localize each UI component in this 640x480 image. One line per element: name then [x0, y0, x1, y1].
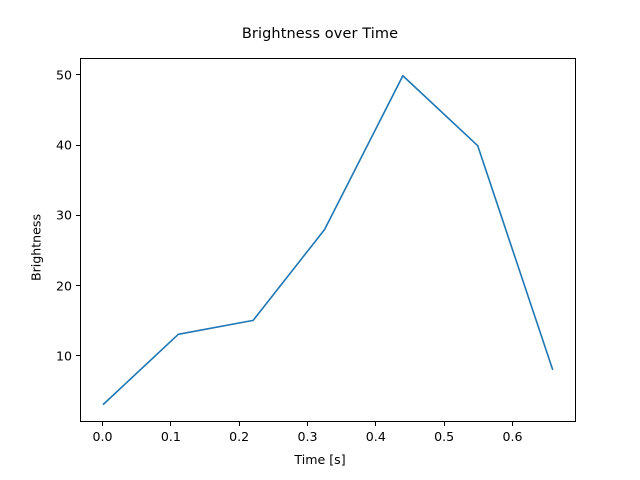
brightness-line-series: [103, 76, 552, 404]
x-tick-label: 0.3: [297, 429, 317, 444]
x-tick-mark: [375, 422, 376, 426]
y-tick-mark: [76, 74, 80, 75]
y-tick-label: 40: [34, 138, 72, 153]
y-tick-mark: [76, 285, 80, 286]
y-tick-mark: [76, 145, 80, 146]
y-axis-label: Brightness: [29, 168, 44, 328]
y-tick-label: 50: [34, 67, 72, 82]
y-tick-mark: [76, 215, 80, 216]
x-tick-label: 0.0: [93, 429, 113, 444]
x-tick-mark: [307, 422, 308, 426]
x-tick-label: 0.1: [161, 429, 181, 444]
x-tick-mark: [102, 422, 103, 426]
x-tick-mark: [170, 422, 171, 426]
line-series-svg: [81, 59, 575, 421]
x-axis-label: Time [s]: [0, 452, 640, 467]
x-tick-label: 0.5: [434, 429, 454, 444]
plot-axes-area: [80, 58, 576, 422]
y-tick-mark: [76, 355, 80, 356]
x-tick-mark: [444, 422, 445, 426]
figure-canvas: Brightness over Time 0.00.10.20.30.40.50…: [0, 0, 640, 480]
x-tick-label: 0.6: [502, 429, 522, 444]
y-tick-label: 10: [34, 348, 72, 363]
x-tick-label: 0.2: [229, 429, 249, 444]
chart-title: Brightness over Time: [0, 26, 640, 42]
x-tick-label: 0.4: [366, 429, 386, 444]
x-tick-mark: [239, 422, 240, 426]
x-tick-mark: [512, 422, 513, 426]
